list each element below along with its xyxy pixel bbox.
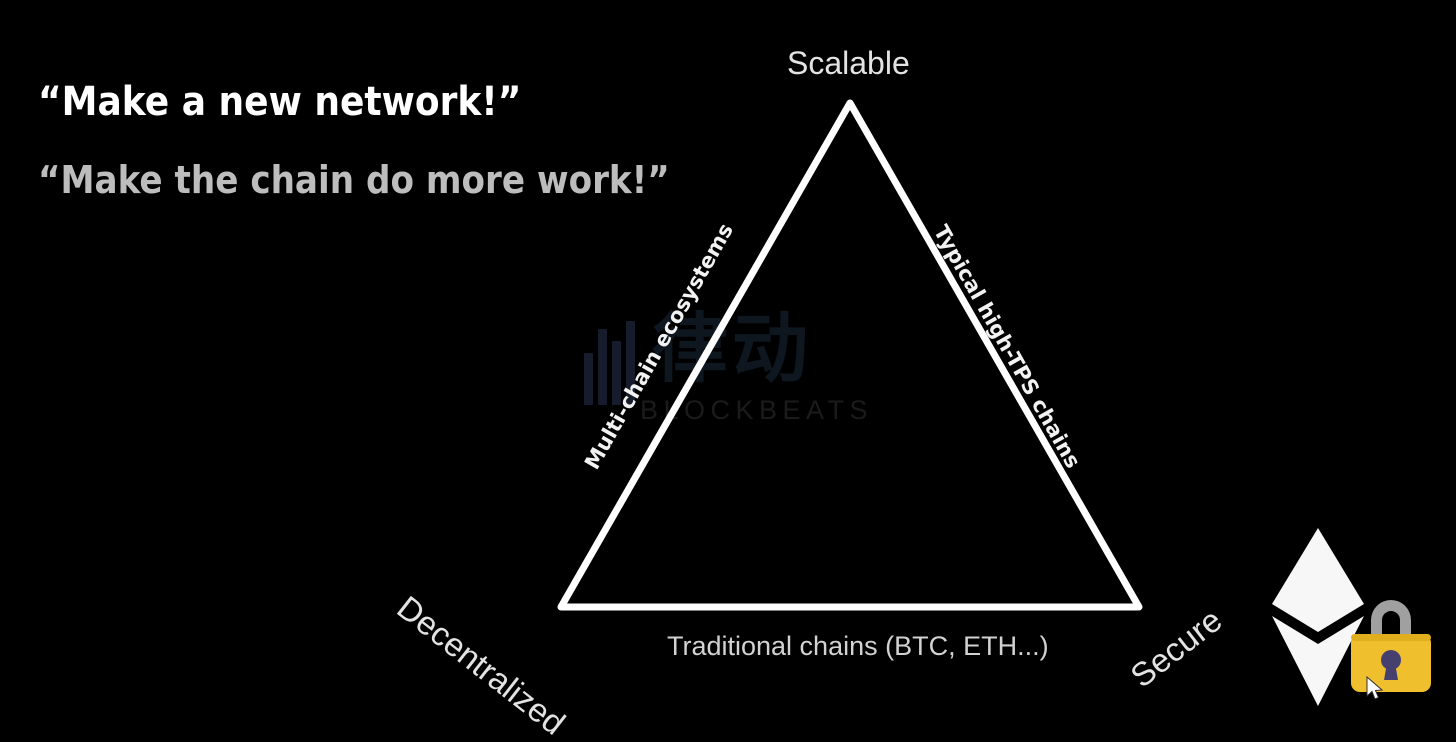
watermark-brand-text: BLOCKBEATS bbox=[640, 397, 873, 424]
edge-label-traditional-chains: Traditional chains (BTC, ETH...) bbox=[667, 633, 1049, 660]
lock-icon bbox=[1348, 596, 1434, 694]
slide-canvas: 律动 BLOCKBEATS “Make a new network!” “Mak… bbox=[0, 0, 1456, 742]
headline-quote-secondary: “Make the chain do more work!” bbox=[38, 158, 670, 202]
vertex-label-secure: Secure bbox=[1125, 603, 1228, 693]
vertex-label-scalable: Scalable bbox=[787, 47, 910, 79]
mouse-cursor-icon bbox=[1366, 676, 1386, 702]
edge-label-multi-chain-ecosystems: Multi-chain ecosystems bbox=[582, 220, 737, 473]
headline-quote-primary: “Make a new network!” bbox=[38, 79, 521, 125]
vertex-label-decentralized: Decentralized bbox=[392, 590, 571, 740]
edge-label-typical-high-tps-chains: Typical high-TPS chains bbox=[930, 222, 1084, 472]
